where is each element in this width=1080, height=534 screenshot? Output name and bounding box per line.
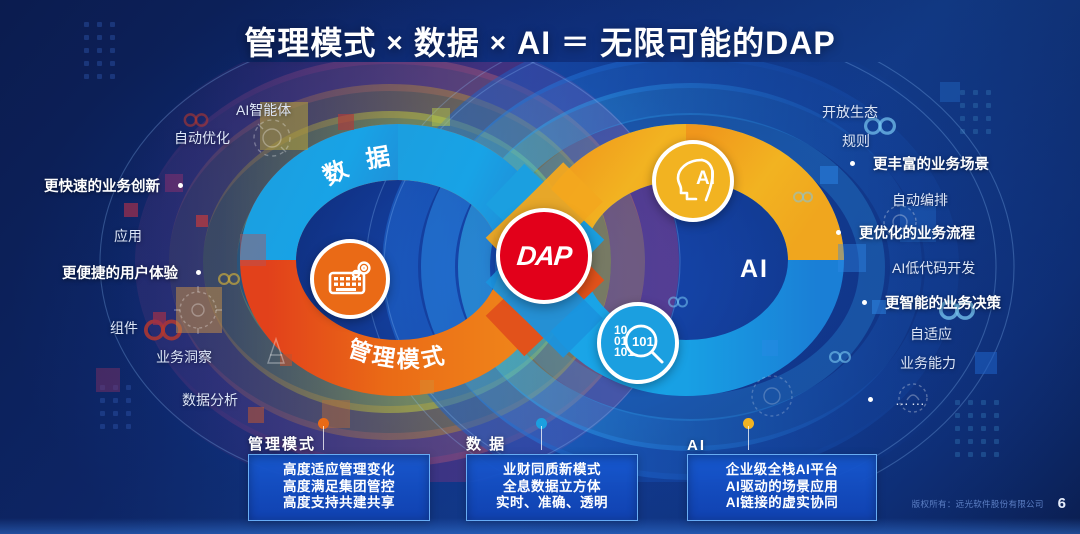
left-label-4: 更便捷的用户体验 [62,262,201,283]
card-label: 数 据 [466,433,506,454]
card-data[interactable]: 数 据 业财同质新模式 全息数据立方体 实时、准确、透明 [466,428,638,521]
bullet-dot [850,161,855,166]
title-part-data: 数据 [414,25,480,61]
copyright-text: 版权所有：远光软件股份有限公司 [912,498,1044,510]
slide-footer: 版权所有：远光软件股份有限公司 6 [912,495,1066,512]
card-body: 业财同质新模式 全息数据立方体 实时、准确、透明 [466,454,638,521]
card-stem-line [748,426,749,450]
left-label-text-1: 自动优化 [174,130,230,146]
left-label-text-6: 业务洞察 [156,349,212,365]
right-label-text-0: 开放生态 [822,104,878,120]
right-label-0: 开放生态 [822,102,878,122]
right-label-text-1: 规则 [842,133,870,149]
card-line-1: AI驱动的场景应用 [698,479,866,496]
right-label-text-4: 更优化的业务流程 [859,226,975,242]
keyboard-gear-icon [310,239,390,319]
arc-label-ai: AI [740,255,769,283]
right-label-text-2: 更丰富的业务场景 [873,157,989,173]
card-stem-line [541,426,542,450]
right-label-text-5: AI低代码开发 [892,260,975,276]
card-body: 高度适应管理变化 高度满足集团管控 高度支持共建共享 [248,454,430,521]
right-label-text-7: 自适应 [910,326,952,342]
left-label-3: 应用 [114,226,142,246]
binary-magnifier-icon: 10 01 10101 101 [597,302,679,384]
bullet-dot [178,183,183,188]
card-line-0: 高度适应管理变化 [259,462,419,479]
svg-text:AI: AI [696,168,715,189]
title-part-ai: AI [517,25,551,61]
right-label-1: 规则 [842,131,870,151]
left-label-text-7: 数据分析 [182,392,238,408]
bottom-glow-band [0,518,1080,534]
bullet-dot [196,270,201,275]
left-label-2: 更快速的业务创新 [44,175,183,196]
card-line-2: AI链接的虚实协同 [698,495,866,512]
card-label: 管理模式 [248,433,316,454]
card-body: 企业级全栈AI平台 AI驱动的场景应用 AI链接的虚实协同 [687,454,877,521]
title-operator-times-2: × [480,27,517,59]
right-label-list: 开放生态 规则 更丰富的业务场景 自动编排 更优化的业务流程 AI低代码开发 更… [800,0,1080,430]
right-label-text-9: …… [895,392,927,408]
card-line-0: 企业级全栈AI平台 [698,462,866,479]
right-label-3: 自动编排 [892,190,948,210]
card-line-2: 实时、准确、透明 [477,495,627,512]
card-header: 管理模式 [248,428,430,454]
left-label-6: 业务洞察 [156,347,212,367]
left-label-1: 自动优化 [174,128,230,148]
card-stem-line [323,426,324,450]
left-label-text-0: AI智能体 [236,102,291,118]
left-label-text-3: 应用 [114,228,142,244]
title-operator-equals: ＝ [551,21,600,61]
left-label-text-5: 组件 [110,320,138,336]
title-operator-times-1: × [376,27,413,59]
card-line-0: 业财同质新模式 [477,462,627,479]
card-management-mode[interactable]: 管理模式 高度适应管理变化 高度满足集团管控 高度支持共建共享 [248,428,430,521]
right-label-9: …… [868,392,927,408]
slide-canvas: 管理模式×数据×AI＝无限可能的DAP [0,0,1080,534]
left-label-text-4: 更便捷的用户体验 [62,266,178,282]
right-label-text-8: 业务能力 [900,355,956,371]
left-label-text-2: 更快速的业务创新 [44,179,160,195]
left-label-7: 数据分析 [182,390,238,410]
bullet-dot [836,230,841,235]
card-line-1: 全息数据立方体 [477,479,627,496]
bullet-dot [868,397,873,402]
card-header: AI [687,428,877,454]
right-label-4: 更优化的业务流程 [836,222,975,243]
bullet-dot [862,300,867,305]
right-label-5: AI低代码开发 [892,258,975,278]
dap-logo-text: DAP [515,241,572,272]
page-number: 6 [1058,495,1066,512]
right-label-6: 更智能的业务决策 [862,292,1001,313]
card-line-2: 高度支持共建共享 [259,495,419,512]
card-label: AI [687,437,706,454]
right-label-2: 更丰富的业务场景 [850,153,989,174]
left-label-0: AI智能体 [236,100,291,120]
left-label-5: 组件 [110,318,138,338]
card-ai[interactable]: AI 企业级全栈AI平台 AI驱动的场景应用 AI链接的虚实协同 [687,428,877,521]
svg-text:101: 101 [632,334,654,349]
card-header: 数 据 [466,428,638,454]
right-label-8: 业务能力 [900,353,956,373]
card-line-1: 高度满足集团管控 [259,479,419,496]
dap-logo: DAP [496,208,592,304]
right-label-7: 自适应 [910,324,952,344]
left-label-list: AI智能体 自动优化 更快速的业务创新 应用 更便捷的用户体验 组件 业务洞察 … [0,0,320,420]
ai-head-icon: AI [652,140,734,222]
right-label-text-6: 更智能的业务决策 [885,296,1001,312]
right-label-text-3: 自动编排 [892,192,948,208]
